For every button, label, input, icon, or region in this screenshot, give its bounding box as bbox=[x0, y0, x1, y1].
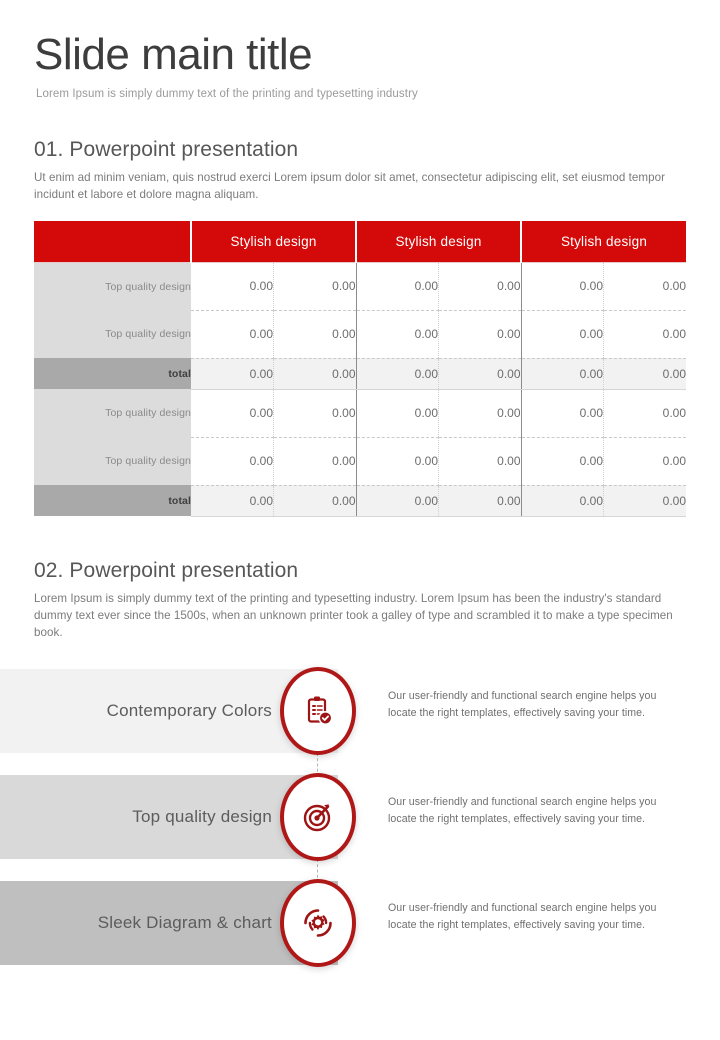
table-cell: 0.00 bbox=[274, 389, 357, 437]
table-cell: 0.00 bbox=[439, 437, 522, 485]
section-02-heading: 02. Powerpoint presentation bbox=[34, 559, 686, 583]
gear-settings-icon bbox=[301, 906, 335, 940]
table-row-total-label: total bbox=[34, 358, 191, 389]
table-cell: 0.00 bbox=[274, 310, 357, 358]
table-cell: 0.00 bbox=[191, 310, 274, 358]
table-cell: 0.00 bbox=[356, 262, 439, 310]
feature-description: Our user-friendly and functional search … bbox=[388, 794, 678, 826]
table-row-label: Top quality design bbox=[34, 310, 191, 358]
table-cell: 0.00 bbox=[604, 485, 687, 516]
feature-icon-badge[interactable] bbox=[280, 879, 356, 967]
feature-label: Top quality design bbox=[132, 807, 272, 827]
table-row-total-label: total bbox=[34, 485, 191, 516]
table-cell: 0.00 bbox=[521, 389, 604, 437]
table-cell: 0.00 bbox=[274, 262, 357, 310]
table-row: total0.000.000.000.000.000.00 bbox=[34, 358, 686, 389]
table-group-header-1: Stylish design bbox=[356, 221, 521, 263]
table-row: Top quality design0.000.000.000.000.000.… bbox=[34, 310, 686, 358]
table-cell: 0.00 bbox=[356, 358, 439, 389]
table-cell: 0.00 bbox=[356, 437, 439, 485]
table-cell: 0.00 bbox=[521, 358, 604, 389]
feature-label: Sleek Diagram & chart bbox=[98, 913, 272, 933]
table-group-header-2: Stylish design bbox=[521, 221, 686, 263]
feature-label: Contemporary Colors bbox=[107, 701, 272, 721]
table-cell: 0.00 bbox=[356, 310, 439, 358]
table-cell: 0.00 bbox=[191, 485, 274, 516]
table-cell: 0.00 bbox=[274, 437, 357, 485]
section-02: 02. Powerpoint presentation Lorem Ipsum … bbox=[0, 559, 720, 641]
table-cell: 0.00 bbox=[604, 358, 687, 389]
icon-inner-ring bbox=[287, 675, 349, 747]
table-cell: 0.00 bbox=[191, 437, 274, 485]
table-cell: 0.00 bbox=[191, 358, 274, 389]
feature-description: Our user-friendly and functional search … bbox=[388, 900, 678, 932]
section-01-heading: 01. Powerpoint presentation bbox=[34, 138, 686, 162]
page-title: Slide main title bbox=[34, 32, 686, 79]
table-cell: 0.00 bbox=[604, 262, 687, 310]
section-01: 01. Powerpoint presentation Ut enim ad m… bbox=[0, 138, 720, 203]
table-cell: 0.00 bbox=[439, 262, 522, 310]
feature-row[interactable]: Contemporary ColorsOur user-friendly and… bbox=[0, 669, 720, 753]
table-cell: 0.00 bbox=[274, 358, 357, 389]
table-cell: 0.00 bbox=[521, 310, 604, 358]
table-cell: 0.00 bbox=[191, 389, 274, 437]
table-cell: 0.00 bbox=[439, 389, 522, 437]
table-cell: 0.00 bbox=[521, 262, 604, 310]
page-subtitle: Lorem Ipsum is simply dummy text of the … bbox=[36, 88, 686, 100]
table-cell: 0.00 bbox=[356, 389, 439, 437]
table-cell: 0.00 bbox=[274, 485, 357, 516]
table-corner-cell bbox=[34, 221, 191, 263]
target-arrow-icon bbox=[301, 800, 335, 834]
table-body: Top quality design0.000.000.000.000.000.… bbox=[34, 262, 686, 516]
table-header-row: Stylish design Stylish design Stylish de… bbox=[34, 221, 686, 263]
section-01-body: Ut enim ad minim veniam, quis nostrud ex… bbox=[34, 169, 686, 203]
table-row-label: Top quality design bbox=[34, 437, 191, 485]
table-cell: 0.00 bbox=[604, 437, 687, 485]
feature-icon-badge[interactable] bbox=[280, 773, 356, 861]
table-row-label: Top quality design bbox=[34, 262, 191, 310]
table-group-header-0: Stylish design bbox=[191, 221, 356, 263]
table-cell: 0.00 bbox=[439, 310, 522, 358]
data-table-container: Stylish design Stylish design Stylish de… bbox=[0, 221, 720, 517]
feature-description: Our user-friendly and functional search … bbox=[388, 688, 678, 720]
table-cell: 0.00 bbox=[439, 358, 522, 389]
table-cell: 0.00 bbox=[604, 310, 687, 358]
feature-row[interactable]: Top quality designOur user-friendly and … bbox=[0, 775, 720, 859]
feature-icon-badge[interactable] bbox=[280, 667, 356, 755]
icon-inner-ring bbox=[287, 781, 349, 853]
clipboard-check-icon bbox=[301, 694, 335, 728]
table-cell: 0.00 bbox=[356, 485, 439, 516]
table-row: total0.000.000.000.000.000.00 bbox=[34, 485, 686, 516]
table-row: Top quality design0.000.000.000.000.000.… bbox=[34, 437, 686, 485]
slide-header: Slide main title Lorem Ipsum is simply d… bbox=[0, 0, 720, 100]
table-cell: 0.00 bbox=[604, 389, 687, 437]
data-table: Stylish design Stylish design Stylish de… bbox=[34, 221, 686, 517]
table-cell: 0.00 bbox=[439, 485, 522, 516]
icon-inner-ring bbox=[287, 887, 349, 959]
table-cell: 0.00 bbox=[521, 437, 604, 485]
table-row: Top quality design0.000.000.000.000.000.… bbox=[34, 262, 686, 310]
feature-row[interactable]: Sleek Diagram & chartOur user-friendly a… bbox=[0, 881, 720, 965]
table-cell: 0.00 bbox=[191, 262, 274, 310]
table-row-label: Top quality design bbox=[34, 389, 191, 437]
feature-list: Contemporary ColorsOur user-friendly and… bbox=[0, 669, 720, 965]
table-cell: 0.00 bbox=[521, 485, 604, 516]
table-header: Stylish design Stylish design Stylish de… bbox=[34, 221, 686, 263]
table-row: Top quality design0.000.000.000.000.000.… bbox=[34, 389, 686, 437]
section-02-body: Lorem Ipsum is simply dummy text of the … bbox=[34, 590, 686, 641]
